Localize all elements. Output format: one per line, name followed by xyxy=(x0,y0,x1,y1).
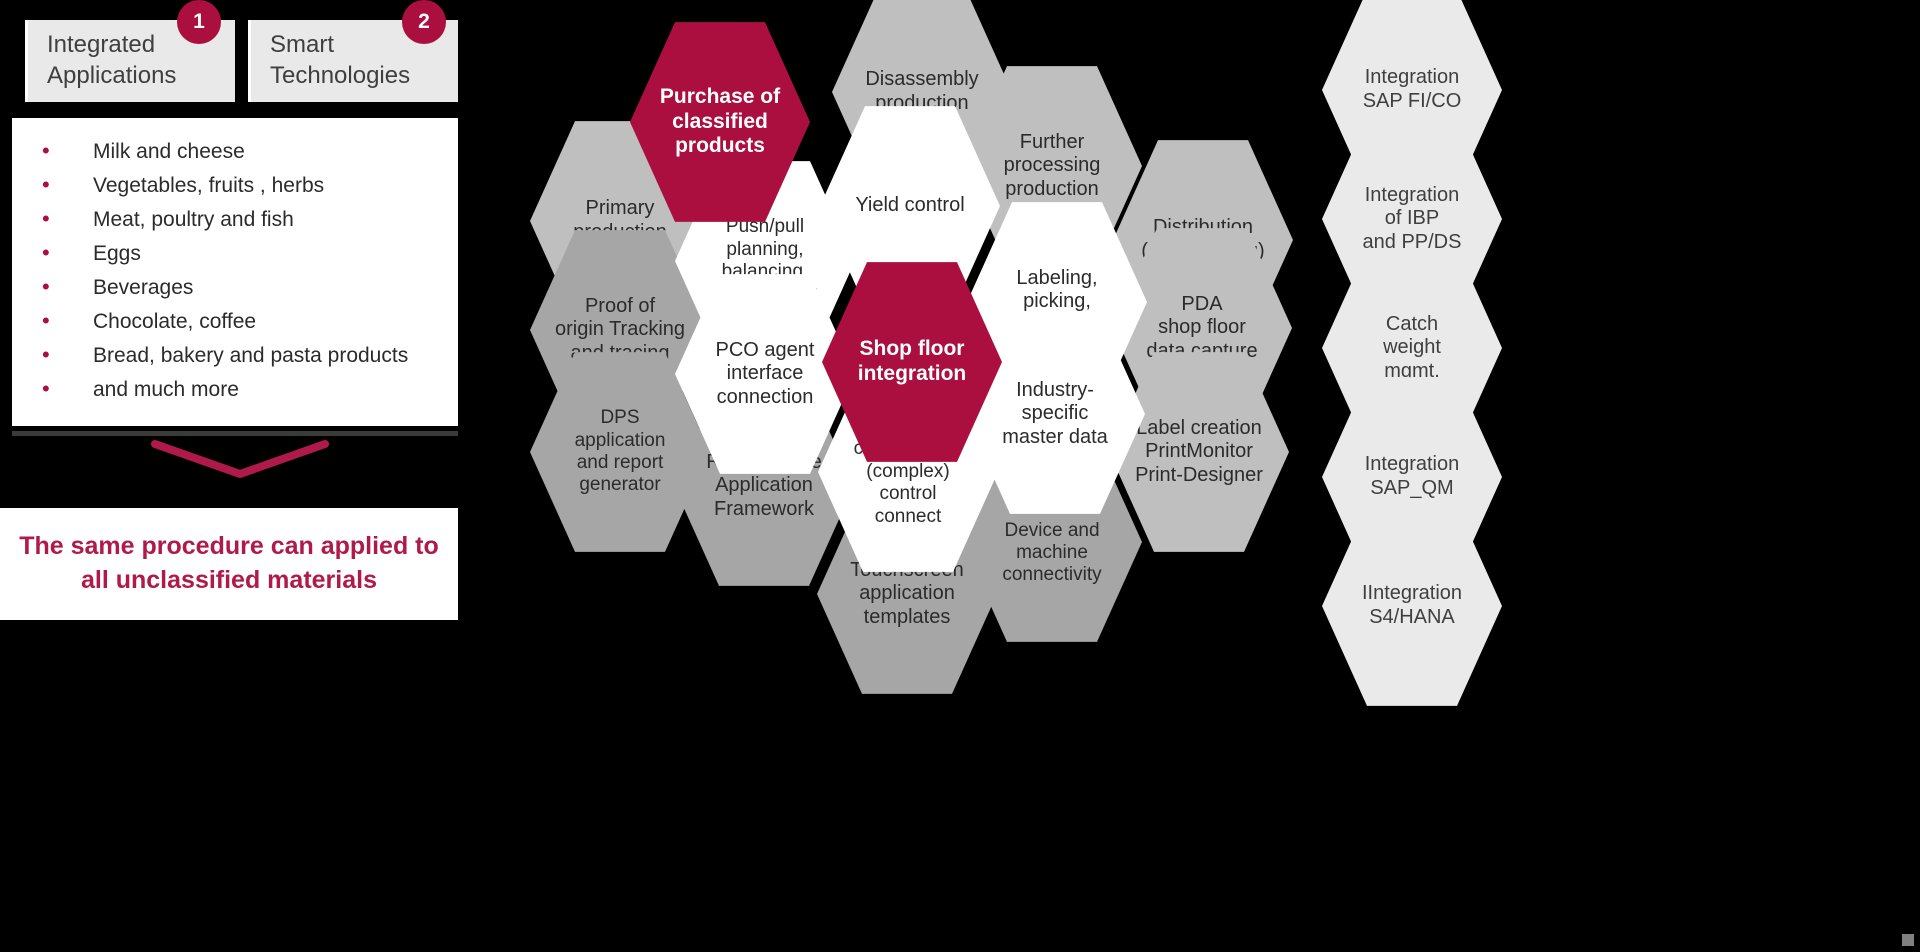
list-item-label: Eggs xyxy=(93,242,141,265)
list-item-label: Chocolate, coffee xyxy=(93,310,256,333)
hex-label: Integration SAP FI/CO xyxy=(1363,66,1462,113)
list-item-label: Meat, poultry and fish xyxy=(93,208,294,231)
summary-panel: The same procedure can applied to all un… xyxy=(0,508,458,620)
hex-label: Purchase of classified products xyxy=(660,85,780,159)
card-stripe xyxy=(25,20,28,102)
list-item-label: and much more xyxy=(93,378,239,401)
list-item: •Vegetables, fruits , herbs xyxy=(42,174,458,202)
list-item-label: Vegetables, fruits , herbs xyxy=(93,174,324,197)
bullet-dot-icon: • xyxy=(42,378,68,400)
list-item: •and much more xyxy=(42,378,458,406)
product-bullet-list: •Milk and cheese•Vegetables, fruits , he… xyxy=(12,118,458,406)
summary-text: The same procedure can applied to all un… xyxy=(19,530,439,598)
hex-label: IIntegration S4/HANA xyxy=(1362,582,1462,629)
badge-1: 1 xyxy=(177,0,221,44)
bullet-dot-icon: • xyxy=(42,344,68,366)
hex-label: Shop floor integration xyxy=(858,337,967,387)
hex-label: Further processing production xyxy=(1004,131,1101,202)
bullet-dot-icon: • xyxy=(42,310,68,332)
bullet-dot-icon: • xyxy=(42,174,68,196)
bullet-dot-icon: • xyxy=(42,208,68,230)
list-item-label: Beverages xyxy=(93,276,193,299)
list-item: •Eggs xyxy=(42,242,458,270)
hex-label: Label creation PrintMonitor Print-Design… xyxy=(1135,417,1263,488)
hex-label: Integration SAP_QM xyxy=(1365,453,1460,500)
list-item: •Bread, bakery and pasta products xyxy=(42,344,458,372)
bullet-dot-icon: • xyxy=(42,140,68,162)
hex-label: Integration of IBP and PP/DS xyxy=(1363,184,1462,255)
divider-rule xyxy=(12,431,458,436)
product-list-panel: •Milk and cheese•Vegetables, fruits , he… xyxy=(12,118,458,426)
corner-marker xyxy=(1902,934,1914,946)
hex-label: Yield control xyxy=(855,194,964,218)
list-item-label: Bread, bakery and pasta products xyxy=(93,344,408,367)
slide-canvas: Integrated Applications 1 Smart Technolo… xyxy=(0,0,1920,952)
card-label: Integrated Applications xyxy=(25,30,176,91)
list-item: •Meat, poultry and fish xyxy=(42,208,458,236)
hex-label: Catch weight mgmt. xyxy=(1383,313,1441,384)
hex-label: DPS application and report generator xyxy=(575,407,666,497)
card-stripe xyxy=(248,20,251,102)
card-label: Smart Technologies xyxy=(248,30,410,91)
hex-label: Industry- specific master data xyxy=(1002,379,1108,450)
list-item-label: Milk and cheese xyxy=(93,140,245,163)
list-item: •Chocolate, coffee xyxy=(42,310,458,338)
list-item: •Milk and cheese xyxy=(42,140,458,168)
list-item: •Beverages xyxy=(42,276,458,304)
hex-label: PCO agent interface connection xyxy=(716,339,815,410)
chevron-down-icon xyxy=(150,438,330,480)
badge-2: 2 xyxy=(402,0,446,44)
bullet-dot-icon: • xyxy=(42,276,68,298)
bullet-dot-icon: • xyxy=(42,242,68,264)
